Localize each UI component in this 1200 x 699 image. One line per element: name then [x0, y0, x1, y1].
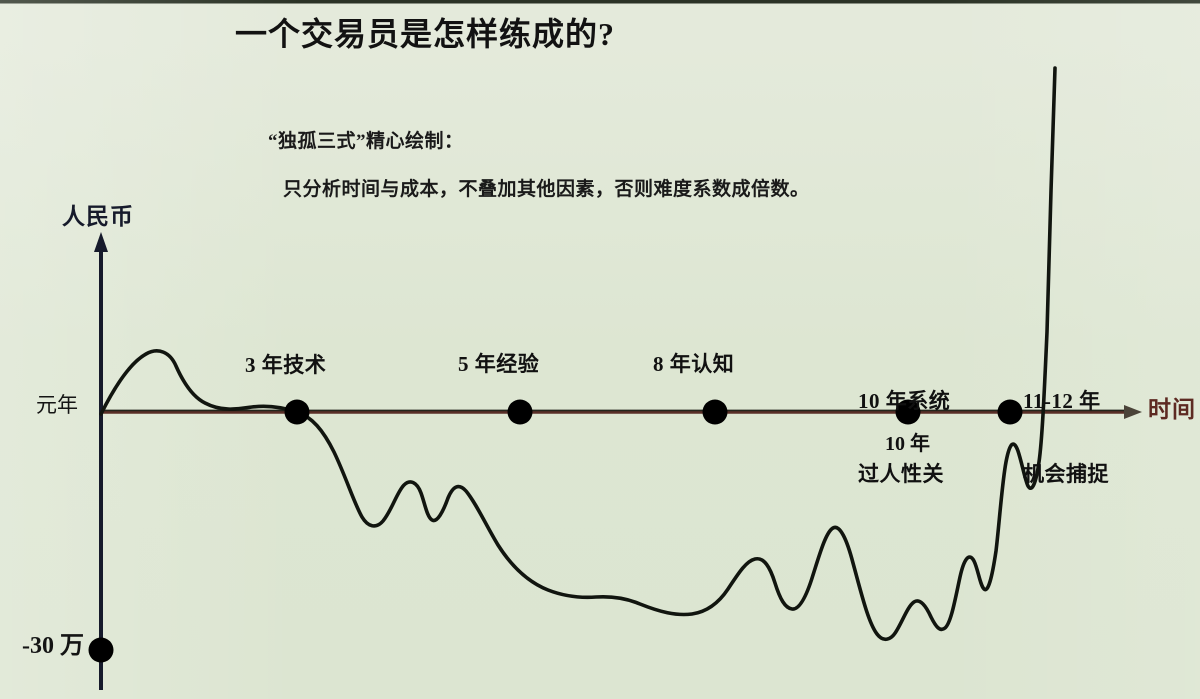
- y-min-label: -30 万: [22, 631, 84, 661]
- chart-graphic: [0, 0, 1200, 699]
- milestone-label-8-year: 8 年认知: [653, 351, 734, 377]
- milestone-11-line1: 11-12 年: [1023, 389, 1109, 413]
- subtitle-line-1: “独孤三式”精心绘制：: [268, 130, 464, 154]
- slide-canvas: 一个交易员是怎样练成的? “独孤三式”精心绘制： 只分析时间与成本，不叠加其他因…: [0, 0, 1200, 699]
- milestone-label-11-year: 11-12 年 机会捕捉: [1023, 341, 1109, 534]
- marker-11-year: [998, 400, 1023, 425]
- marker-3-year: [285, 400, 310, 425]
- y-axis-title: 人民币: [62, 203, 134, 232]
- x-axis-title: 时间: [1148, 396, 1196, 425]
- milestone-11-line2: 机会捕捉: [1023, 462, 1109, 486]
- origin-label: 元年: [36, 392, 78, 418]
- milestone-10-line1: 10 年系统: [858, 389, 950, 413]
- subtitle-line-2: 只分析时间与成本，不叠加其他因素，否则难度系数成倍数。: [283, 178, 810, 202]
- marker-8-year: [703, 400, 728, 425]
- marker-5-year: [508, 400, 533, 425]
- milestone-10-line2: 过人性关: [858, 462, 950, 486]
- milestone-label-3-year: 3 年技术: [245, 352, 326, 378]
- milestone-label-5-year: 5 年经验: [458, 351, 539, 377]
- value-axis: [94, 232, 108, 690]
- milestone-sublabel-10-year: 10 年: [885, 432, 930, 457]
- page-title: 一个交易员是怎样练成的?: [235, 14, 615, 54]
- marker-min-value: [89, 638, 114, 663]
